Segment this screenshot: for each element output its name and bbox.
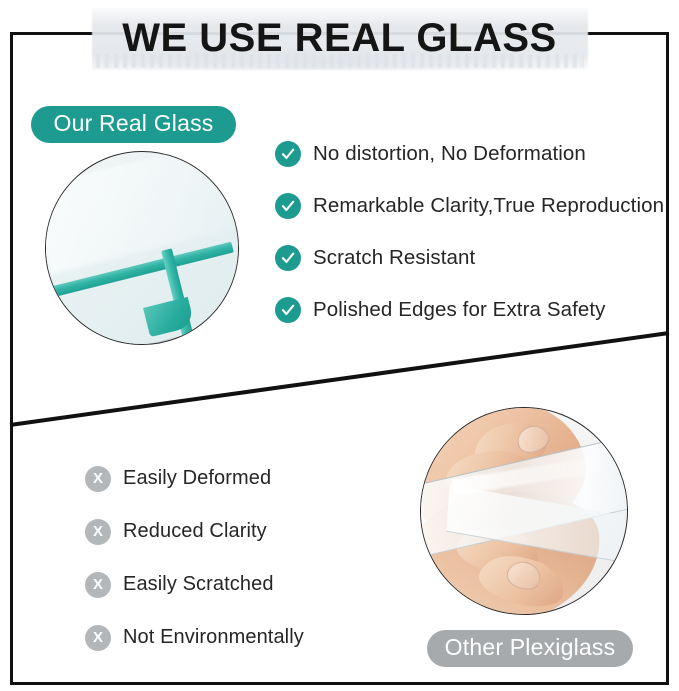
badge-other-plexiglass: Other Plexiglass xyxy=(427,630,633,667)
list-item: Scratch Resistant xyxy=(275,232,670,284)
badge-our-real-glass: Our Real Glass xyxy=(31,106,236,143)
x-icon: X xyxy=(85,625,111,651)
x-icon: X xyxy=(85,519,111,545)
list-item-label: Scratch Resistant xyxy=(313,246,475,270)
list-item: X Not Environmentally xyxy=(85,611,445,664)
diagonal-divider xyxy=(10,330,669,430)
comparison-infographic: WE USE REAL GLASS Our Real Glass No dist… xyxy=(0,0,679,691)
list-item: X Easily Deformed xyxy=(85,452,445,505)
check-icon xyxy=(275,245,301,271)
list-item: Remarkable Clarity,True Reproduction xyxy=(275,180,670,232)
x-icon: X xyxy=(85,572,111,598)
list-item-label: Polished Edges for Extra Safety xyxy=(313,298,606,322)
list-item-label: Reduced Clarity xyxy=(123,520,267,543)
check-icon xyxy=(275,141,301,167)
page-title: WE USE REAL GLASS xyxy=(0,14,679,62)
check-icon xyxy=(275,297,301,323)
list-item: No distortion, No Deformation xyxy=(275,128,670,180)
list-item-label: Easily Deformed xyxy=(123,467,271,490)
plexiglass-photo xyxy=(420,407,628,615)
list-item: X Reduced Clarity xyxy=(85,505,445,558)
list-item: Polished Edges for Extra Safety xyxy=(275,284,670,336)
list-item: X Easily Scratched xyxy=(85,558,445,611)
check-icon xyxy=(275,193,301,219)
list-item-label: No distortion, No Deformation xyxy=(313,142,586,166)
cons-list: X Easily Deformed X Reduced Clarity X Ea… xyxy=(85,452,445,664)
pros-list: No distortion, No Deformation Remarkable… xyxy=(275,128,670,336)
list-item-label: Not Environmentally xyxy=(123,626,304,649)
list-item-label: Remarkable Clarity,True Reproduction xyxy=(313,194,664,218)
x-icon: X xyxy=(85,466,111,492)
real-glass-photo xyxy=(45,151,239,345)
list-item-label: Easily Scratched xyxy=(123,573,274,596)
